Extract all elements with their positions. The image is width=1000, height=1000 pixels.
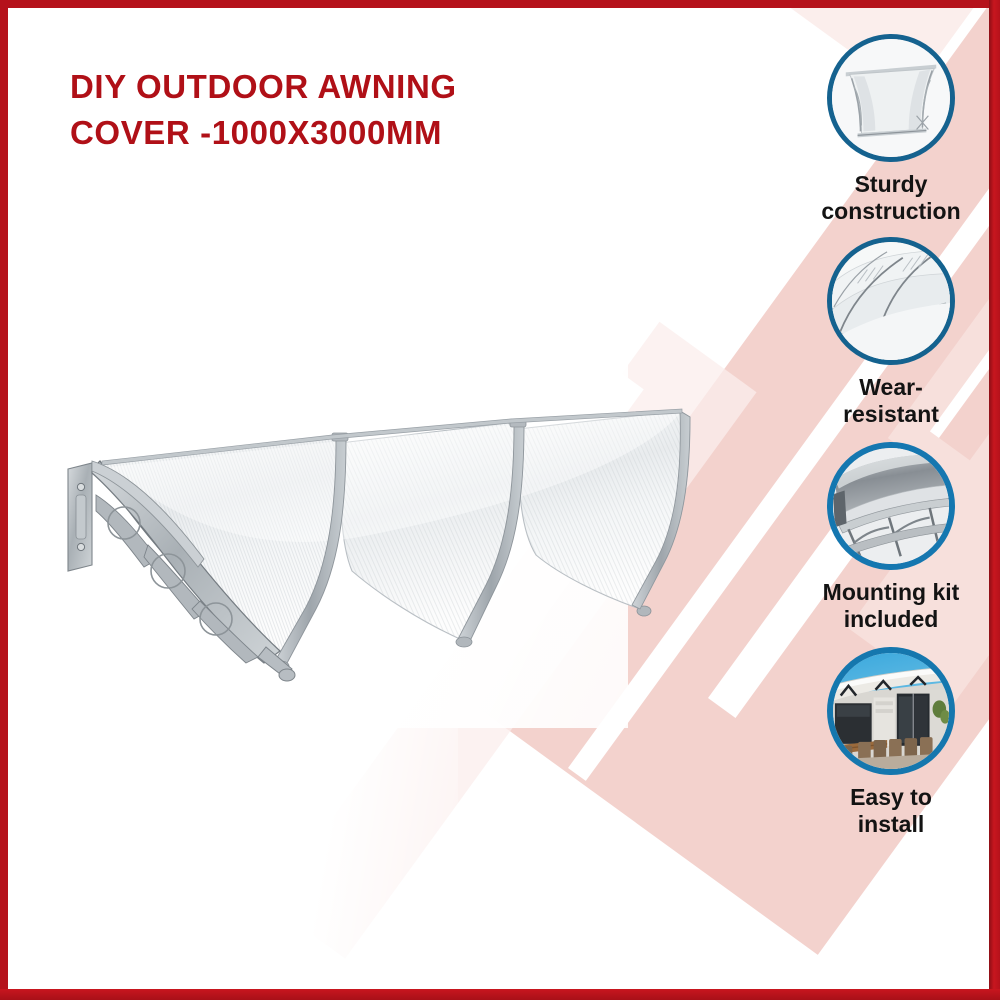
product-image [40, 395, 800, 715]
feature-label-line-2: install [797, 811, 985, 838]
feature-badge-sturdy-construction [827, 34, 955, 162]
feature-badge-easy-to-install [827, 647, 955, 775]
feature-label-sturdy-construction: Sturdy construction [797, 171, 985, 225]
feature-badge-mounting-kit-included [827, 442, 955, 570]
feature-badge-wear-resistant [827, 237, 955, 365]
page-title-line-2: COVER -1000X3000MM [70, 110, 590, 156]
bracket-bolt-bottom [77, 543, 84, 550]
product-listing-image: DIY OUTDOOR AWNING COVER -1000X3000MM [0, 0, 1000, 1000]
feature-label-line-1: Sturdy [797, 171, 985, 198]
page-title: DIY OUTDOOR AWNING COVER -1000X3000MM [70, 64, 590, 156]
feature-label-line-1: Wear- [797, 374, 985, 401]
feature-label-line-1: Mounting kit [797, 579, 985, 606]
feature-list: Sturdy construction [796, 34, 986, 984]
bracket-foot-cap [279, 669, 295, 681]
border-top [0, 0, 1000, 8]
feature-label-line-2: construction [797, 198, 985, 225]
feature-item-easy-to-install: Easy to install [796, 647, 986, 838]
page-title-line-1: DIY OUTDOOR AWNING [70, 64, 590, 110]
feature-label-line-2: resistant [797, 401, 985, 428]
bracket-bolt-top [77, 483, 84, 490]
feature-item-sturdy-construction: Sturdy construction [796, 34, 986, 225]
feature-item-wear-resistant: Wear- resistant [796, 237, 986, 428]
rib-cap-bottom-2 [456, 637, 472, 647]
feature-item-mounting-kit-included: Mounting kit included [796, 442, 986, 633]
feature-label-line-2: included [797, 606, 985, 633]
feature-label-wear-resistant: Wear- resistant [797, 374, 985, 428]
feature-label-line-1: Easy to [797, 784, 985, 811]
border-right [989, 0, 1000, 1000]
feature-label-easy-to-install: Easy to install [797, 784, 985, 838]
border-bottom [0, 989, 1000, 1000]
border-left [0, 0, 8, 1000]
bracket-plate-slot [76, 495, 86, 539]
feature-label-mounting-kit-included: Mounting kit included [797, 579, 985, 633]
